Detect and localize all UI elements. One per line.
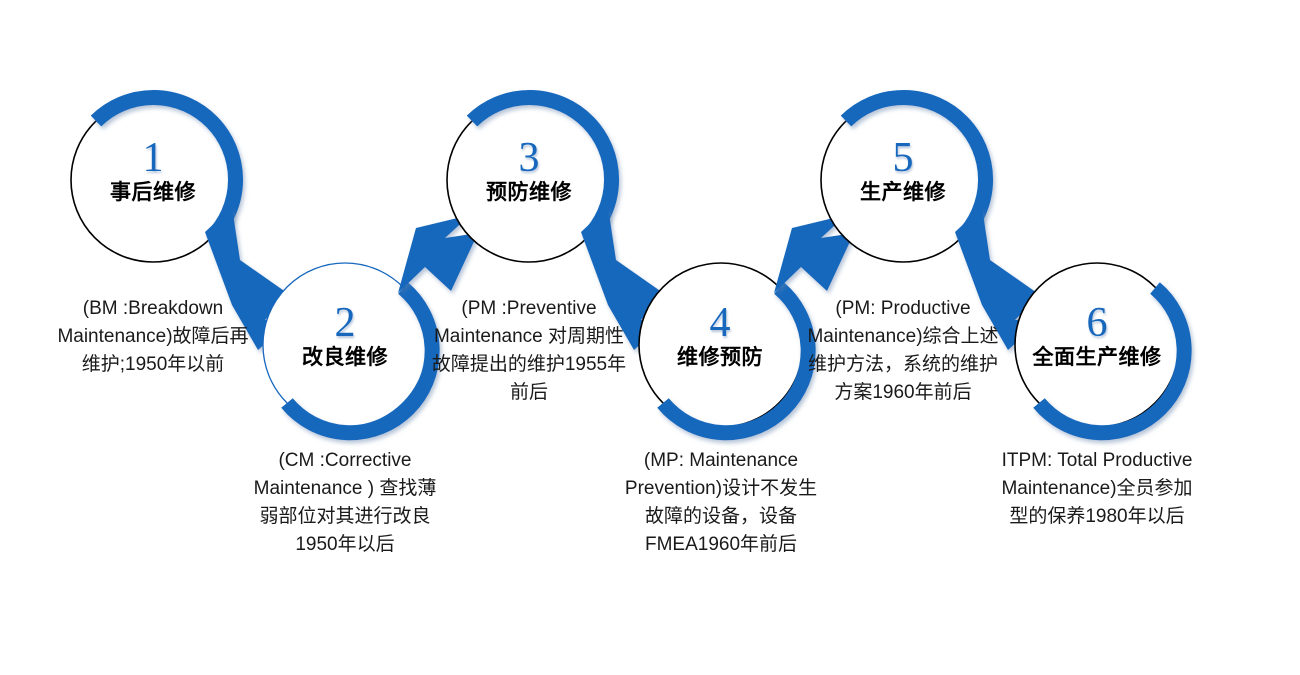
process-flow-diagram: 1 事后维修 (BM :Breakdown Maintenance)故障后再维护…	[0, 0, 1300, 675]
step-2-description: (CM :Corrective Maintenance ) 查找薄弱部位对其进行…	[247, 447, 443, 559]
step-6-outline-circle	[1015, 263, 1179, 427]
step-4-description: (MP: Maintenance Prevention)设计不发生故障的设备，设…	[623, 447, 819, 559]
step-3-description: (PM :Preventive Maintenance 对周期性故障提出的维护1…	[431, 295, 627, 407]
step-1-description: (BM :Breakdown Maintenance)故障后再维护;1950年以…	[55, 295, 251, 379]
step-6-graphics	[1015, 263, 1184, 433]
step-5-description: (PM: Productive Maintenance)综合上述维护方法，系统的…	[805, 295, 1001, 407]
step-6-description: ITPM: Total Productive Maintenance)全员参加型…	[999, 447, 1195, 531]
